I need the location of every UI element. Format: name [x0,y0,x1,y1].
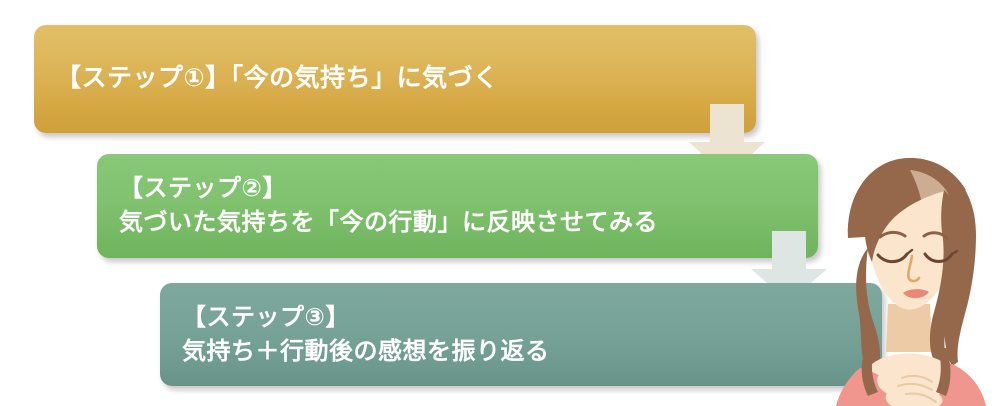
step-3-body-text: 気持ち＋行動後の感想を振り返る [182,336,882,368]
step-2-lead-text: 【ステップ②】 [119,173,818,205]
step-box-1: 【ステップ①】「今の気持ち」に気づく [34,25,756,133]
figure-canvas: 【ステップ①】「今の気持ち」に気づく 【ステップ②】 気づいた気持ちを「今の行動… [0,0,1008,406]
step-box-2: 【ステップ②】 気づいた気持ちを「今の行動」に反映させてみる [97,154,818,258]
step-3-lead-text: 【ステップ③】 [182,302,882,334]
woman-hands-on-chest-illustration [806,152,1008,406]
step-1-lead-text: 【ステップ①】「今の気持ち」に気づく [56,62,756,95]
step-2-body-text: 気づいた気持ちを「今の行動」に反映させてみる [119,207,818,239]
step-box-3: 【ステップ③】 気持ち＋行動後の感想を振り返る [160,283,882,386]
woman-illustration-graphic [806,152,1008,406]
